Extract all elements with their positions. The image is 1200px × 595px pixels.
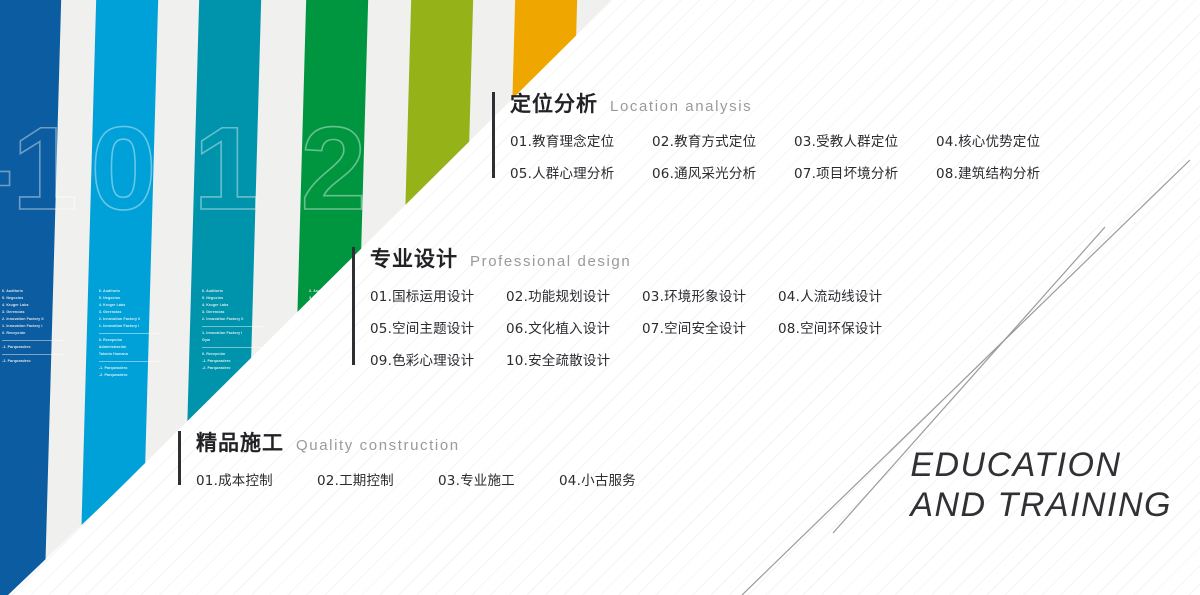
section-item-grid: 01.教育理念定位 02.教育方式定位 03.受教人群定位 04.核心优势定位 … (510, 130, 1078, 182)
stripe-outline-number: 0 (91, 110, 155, 228)
section-title-cn: 专业设计 (370, 243, 458, 273)
list-item[interactable]: 10.安全疏散设计 (506, 349, 642, 369)
list-item[interactable]: 08.建筑结构分析 (936, 162, 1078, 182)
stripe-outline-number: -1 (0, 110, 76, 228)
stripe-micro-legend: 6. Auditorio5. Negocios4. Kruger Labs3. … (2, 288, 80, 365)
list-item[interactable]: 05.空间主题设计 (370, 317, 506, 337)
list-item[interactable]: 06.通风采光分析 (652, 162, 794, 182)
section-title-cn: 精品施工 (196, 427, 284, 457)
section-quality-construction: 精品施工 Quality construction 01.成本控制 02.工期控… (178, 427, 680, 489)
list-item[interactable]: 01.教育理念定位 (510, 130, 652, 150)
list-item[interactable]: 07.空间安全设计 (642, 317, 778, 337)
list-item[interactable]: 02.功能规划设计 (506, 285, 642, 305)
list-item[interactable]: 02.工期控制 (317, 469, 438, 489)
list-item[interactable]: 06.文化植入设计 (506, 317, 642, 337)
section-professional-design: 专业设计 Professional design 01.国标运用设计 02.功能… (352, 243, 914, 369)
stripe-outline-number: 1 (194, 110, 258, 228)
list-item[interactable]: 04.小古服务 (559, 469, 680, 489)
section-header: 定位分析 Location analysis (510, 88, 1078, 118)
footer-wordmark: EDUCATION AND TRAINING (910, 445, 1172, 525)
section-location-analysis: 定位分析 Location analysis 01.教育理念定位 02.教育方式… (492, 88, 1078, 182)
section-title-en: Location analysis (610, 98, 752, 115)
wordmark-line-1: EDUCATION (910, 445, 1172, 485)
list-item[interactable]: 03.专业施工 (438, 469, 559, 489)
section-item-grid: 01.成本控制 02.工期控制 03.专业施工 04.小古服务 (196, 469, 680, 489)
slide-canvas: -16. Auditorio5. Negocios4. Kruger Labs3… (0, 0, 1200, 595)
list-item[interactable]: 04.人流动线设计 (778, 285, 914, 305)
list-item[interactable]: 03.受教人群定位 (794, 130, 936, 150)
section-header: 专业设计 Professional design (370, 243, 914, 273)
list-item[interactable]: 01.成本控制 (196, 469, 317, 489)
list-item[interactable]: 05.人群心理分析 (510, 162, 652, 182)
section-title-en: Quality construction (296, 437, 460, 454)
color-stripe: -16. Auditorio5. Negocios4. Kruger Labs3… (0, 0, 62, 595)
wordmark-line-2: AND TRAINING (910, 485, 1172, 525)
stripe-micro-legend: 6. Auditorio5. Negocios4. Kruger Labs3. … (99, 288, 177, 379)
section-title-en: Professional design (470, 253, 631, 270)
section-header: 精品施工 Quality construction (196, 427, 680, 457)
section-title-cn: 定位分析 (510, 88, 598, 118)
list-item[interactable]: 03.环境形象设计 (642, 285, 778, 305)
list-item[interactable]: 07.项目坏境分析 (794, 162, 936, 182)
stripe-outline-number: 2 (301, 110, 365, 228)
list-item[interactable]: 04.核心优势定位 (936, 130, 1078, 150)
list-item[interactable]: 09.色彩心理设计 (370, 349, 506, 369)
list-item[interactable]: 02.教育方式定位 (652, 130, 794, 150)
list-item[interactable]: 08.空间环保设计 (778, 317, 914, 337)
list-item[interactable]: 01.国标运用设计 (370, 285, 506, 305)
section-item-grid: 01.国标运用设计 02.功能规划设计 03.环境形象设计 04.人流动线设计 … (370, 285, 914, 369)
